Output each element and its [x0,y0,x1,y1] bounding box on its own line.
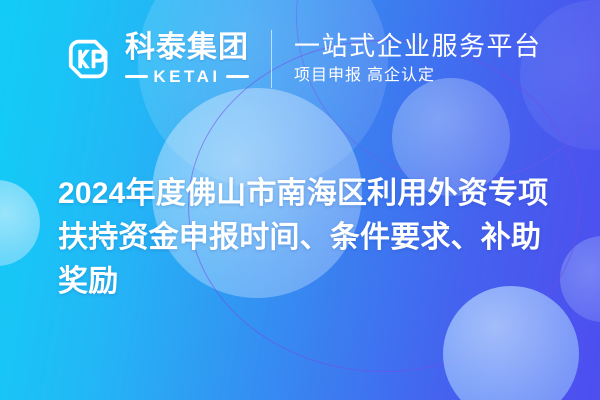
tagline-secondary: 项目申报 高企认定 [294,67,542,85]
brand-rule-left [125,75,148,78]
brand-wordmark: 科泰集团 KETAI [125,33,249,85]
background-blob-left-edge [0,180,40,266]
brand-lockup[interactable]: 科泰集团 KETAI [58,30,249,88]
brand-name-cn: 科泰集团 [125,33,249,63]
brand-rule-right [226,75,249,78]
brand-name-en: KETAI [153,68,220,85]
tagline-primary: 一站式企业服务平台 [294,32,542,62]
header-divider [271,30,272,88]
banner-header: 科泰集团 KETAI 一站式企业服务平台 项目申报 高企认定 [0,0,600,118]
banner-headline: 2024年度佛山市南海区利用外资专项扶持资金申报时间、条件要求、补助奖励 [58,172,558,304]
promo-banner: 科泰集团 KETAI 一站式企业服务平台 项目申报 高企认定 2024年度佛山市… [0,0,600,400]
background-blob-lower-right-faint [560,236,600,322]
brand-name-en-row: KETAI [125,68,249,85]
kp-monogram-logo-icon [58,30,116,88]
header-tagline: 一站式企业服务平台 项目申报 高企认定 [294,32,542,85]
